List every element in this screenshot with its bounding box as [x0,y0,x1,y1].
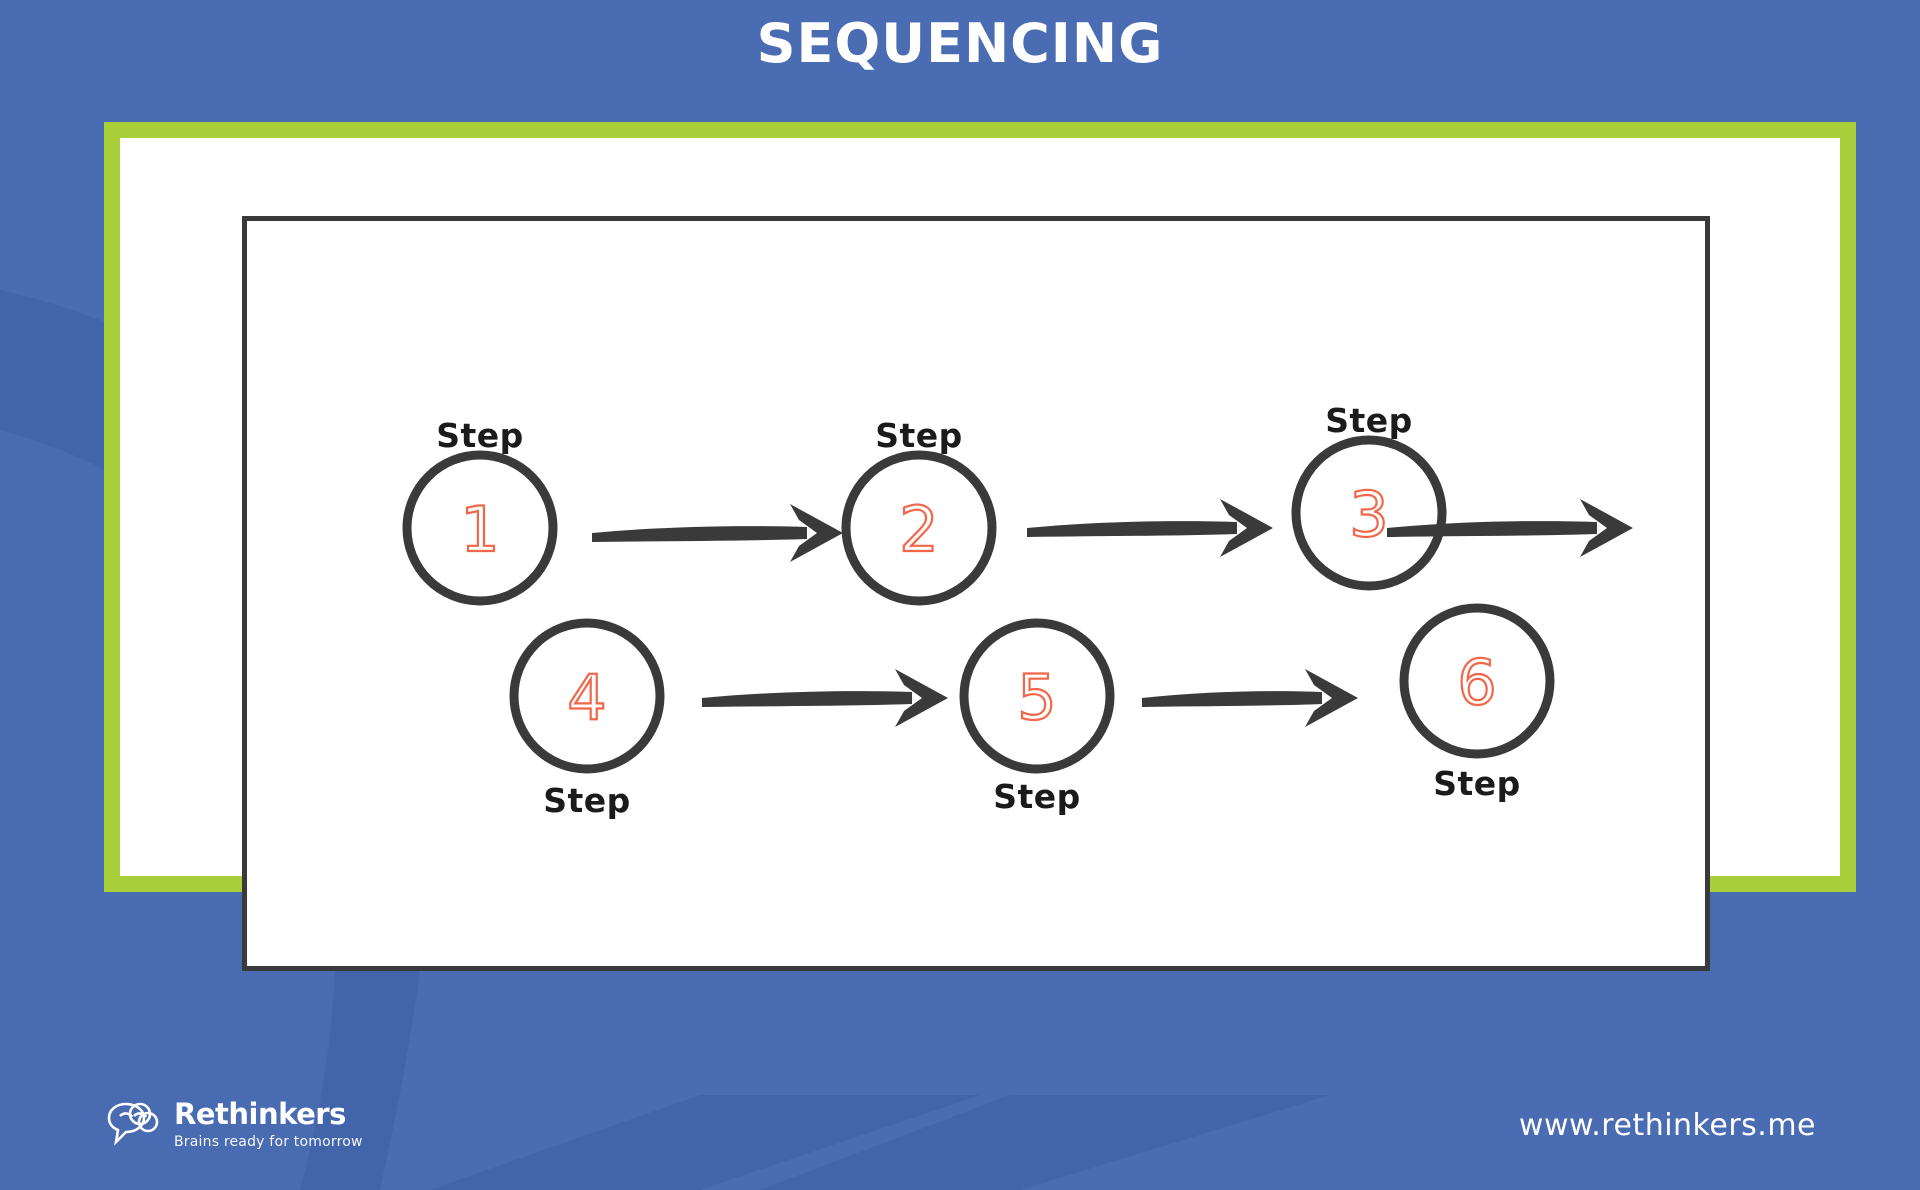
step-number-2: 2 [899,493,938,566]
page-title: SEQUENCING [0,12,1920,75]
website-url[interactable]: www.rethinkers.me [1519,1108,1816,1143]
rethinkers-brain-icon [104,1098,160,1150]
brand-tagline: Brains ready for tomorrow [174,1135,363,1149]
step-label-3: Step [1325,401,1413,440]
green-frame: 1 2 3 4 5 6 [104,122,1856,892]
brand-name: Rethinkers [174,1100,363,1129]
step-label-6: Step [1433,764,1521,803]
step-label-5: Step [993,777,1081,816]
step-label-2: Step [875,416,963,455]
worksheet-box: 1 2 3 4 5 6 [242,216,1710,971]
step-number-1: 1 [460,493,499,566]
arrow-5-6 [1142,669,1358,727]
footer: Rethinkers Brains ready for tomorrow www… [0,1080,1920,1190]
step-label-4: Step [543,781,631,820]
brand-logo[interactable]: Rethinkers Brains ready for tomorrow [104,1098,363,1150]
step-number-3: 3 [1349,478,1388,551]
arrow-1-2 [592,504,843,562]
sequencing-diagram: 1 2 3 4 5 6 [247,221,1705,966]
step-label-1: Step [436,416,524,455]
step-number-4: 4 [567,661,606,734]
step-number-6: 6 [1457,646,1496,719]
step-number-5: 5 [1017,661,1056,734]
diagram-vector-layer: 1 2 3 4 5 6 [247,221,1705,966]
arrow-2-3 [1027,499,1273,557]
arrow-4-5 [702,669,948,727]
white-card: 1 2 3 4 5 6 [120,138,1840,876]
